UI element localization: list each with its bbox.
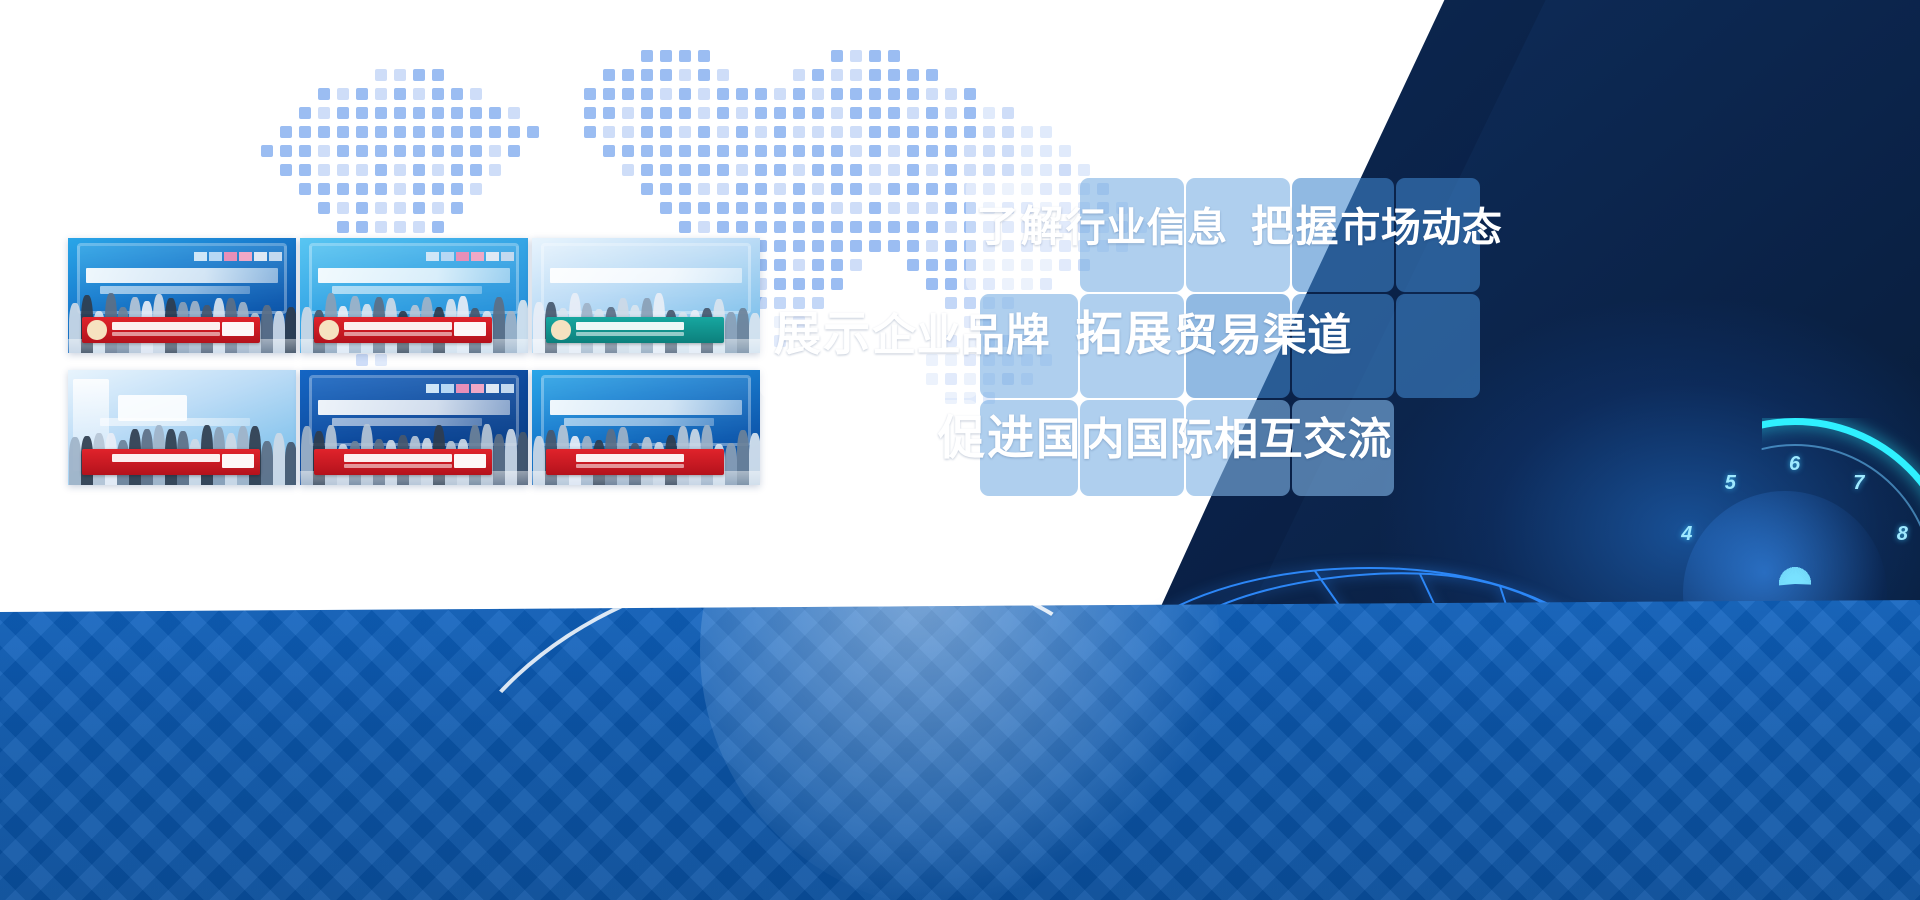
photo-screen-title xyxy=(550,268,742,283)
banner-vip-label xyxy=(454,454,486,468)
headline-2-strong: 展示 xyxy=(774,307,872,360)
photo-red-banner xyxy=(82,449,260,474)
banner-text-line xyxy=(112,322,221,330)
headline-2-mid: 企业品牌 xyxy=(872,311,1050,360)
banner-seal xyxy=(319,320,339,339)
headline-3-tail: 国内国际相互交流 xyxy=(1036,415,1392,464)
banner-subtext-line xyxy=(576,332,685,336)
banner-seal xyxy=(87,320,107,339)
banner-vip-label xyxy=(454,322,486,336)
photo-color-chips xyxy=(194,252,282,261)
photo-4[interactable] xyxy=(68,370,296,485)
photo-screen-title xyxy=(318,400,510,415)
photo-green-banner xyxy=(546,317,724,342)
gauge-label-5: 5 xyxy=(1725,472,1736,495)
photo-3[interactable] xyxy=(532,238,760,353)
bottom-blue-band xyxy=(0,600,1920,900)
photo-red-banner xyxy=(314,317,492,342)
headline-line-2: 展示企业品牌 拓展贸易渠道 xyxy=(774,295,1352,364)
banner-subtext-line xyxy=(576,464,685,468)
banner-vip-label xyxy=(222,322,254,336)
banner-text-line xyxy=(112,454,221,462)
banner-seal xyxy=(551,320,571,339)
headline-1-mid: 行业信息 xyxy=(1066,206,1228,250)
banner-subtext-line xyxy=(344,332,453,336)
headline-1-strong: 了解 xyxy=(976,203,1066,251)
photo-screen-title xyxy=(550,400,742,415)
banner-text-line xyxy=(344,454,453,462)
photo-5[interactable] xyxy=(300,370,528,485)
photo-1[interactable] xyxy=(68,238,296,353)
banner-subtext-line xyxy=(112,332,221,336)
headline-2-tail: 贸易渠道 xyxy=(1174,311,1352,360)
photo-screen-title xyxy=(318,268,510,283)
gauge-label-8: 8 xyxy=(1897,523,1908,546)
photo-gallery xyxy=(68,238,758,488)
gauge-label-4: 4 xyxy=(1681,523,1692,546)
headline-1-strong2: 把握 xyxy=(1251,203,1341,251)
gauge-label-6: 6 xyxy=(1789,453,1800,476)
photo-red-banner xyxy=(546,449,724,474)
photo-6[interactable] xyxy=(532,370,760,485)
banner-text-line xyxy=(576,454,685,462)
headline-3-strong: 促进 xyxy=(938,411,1036,464)
photo-red-banner xyxy=(82,317,260,342)
banner-vip-label xyxy=(222,454,254,468)
photo-color-chips xyxy=(426,384,514,393)
banner-subtext-line xyxy=(344,464,453,468)
gauge-label-7: 7 xyxy=(1853,472,1864,495)
tile xyxy=(1396,294,1480,398)
photo-color-chips xyxy=(426,252,514,261)
headline-1-tail: 市场动态 xyxy=(1340,206,1502,250)
banner-text-line xyxy=(576,322,685,330)
headline-2-strong2: 拓展 xyxy=(1076,307,1174,360)
photo-red-banner xyxy=(314,449,492,474)
promo-banner: 了解行业信息 把握市场动态 展示企业品牌 拓展贸易渠道 促进国内国际相互交流 4… xyxy=(0,0,1920,900)
headline-line-1: 了解行业信息 把握市场动态 xyxy=(976,192,1502,254)
headline-line-3: 促进国内国际相互交流 xyxy=(938,399,1392,468)
photo-year-logo xyxy=(118,395,186,420)
photo-2[interactable] xyxy=(300,238,528,353)
photo-screen-title xyxy=(86,268,278,283)
banner-text-line xyxy=(344,322,453,330)
